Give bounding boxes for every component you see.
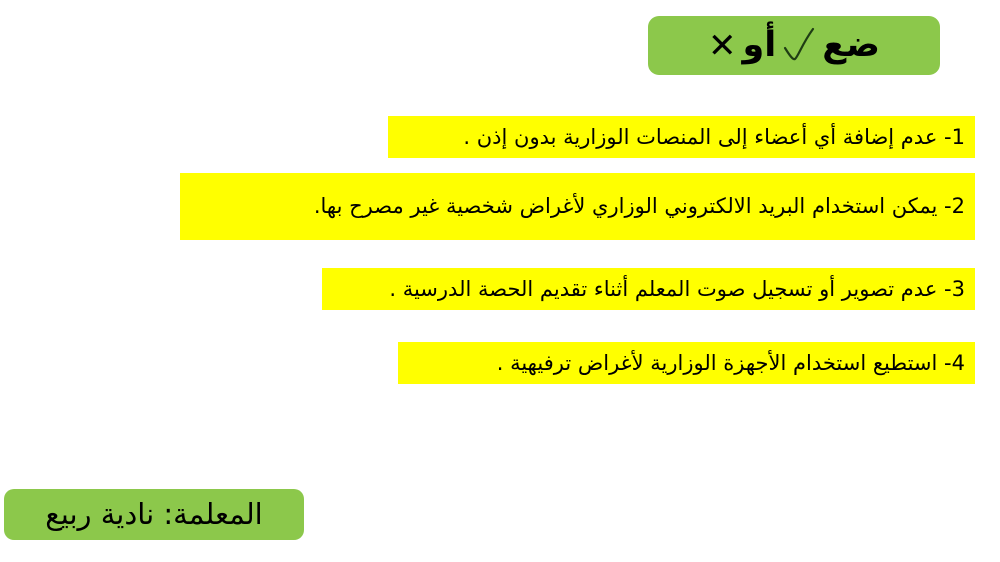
question-text-1: 1- عدم إضافة أي أعضاء إلى المنصات الوزار… [388, 124, 975, 151]
title-prefix-label: ضع [822, 28, 880, 63]
title-separator-label: أو [743, 28, 777, 63]
question-row-1: 1- عدم إضافة أي أعضاء إلى المنصات الوزار… [388, 116, 975, 158]
question-text-2: 2- يمكن استخدام البريد الالكتروني الوزار… [180, 193, 975, 220]
page-title: ضع أو ✕ [708, 26, 880, 66]
check-mark-icon [782, 26, 816, 66]
teacher-credit-banner: المعلمة: نادية ربيع [4, 489, 304, 540]
question-text-4: 4- استطيع استخدام الأجهزة الوزارية لأغرا… [398, 350, 975, 377]
x-mark-icon: ✕ [708, 29, 737, 63]
question-row-3: 3- عدم تصوير أو تسجيل صوت المعلم أثناء ت… [322, 268, 975, 310]
title-banner: ضع أو ✕ [648, 16, 940, 75]
slide-canvas: ضع أو ✕ 1- عدم إضافة أي أعضاء إلى المنصا… [0, 0, 1000, 562]
question-text-3: 3- عدم تصوير أو تسجيل صوت المعلم أثناء ت… [322, 276, 975, 303]
question-row-2: 2- يمكن استخدام البريد الالكتروني الوزار… [180, 173, 975, 240]
question-row-4: 4- استطيع استخدام الأجهزة الوزارية لأغرا… [398, 342, 975, 384]
teacher-name-label: المعلمة: نادية ربيع [45, 500, 262, 529]
